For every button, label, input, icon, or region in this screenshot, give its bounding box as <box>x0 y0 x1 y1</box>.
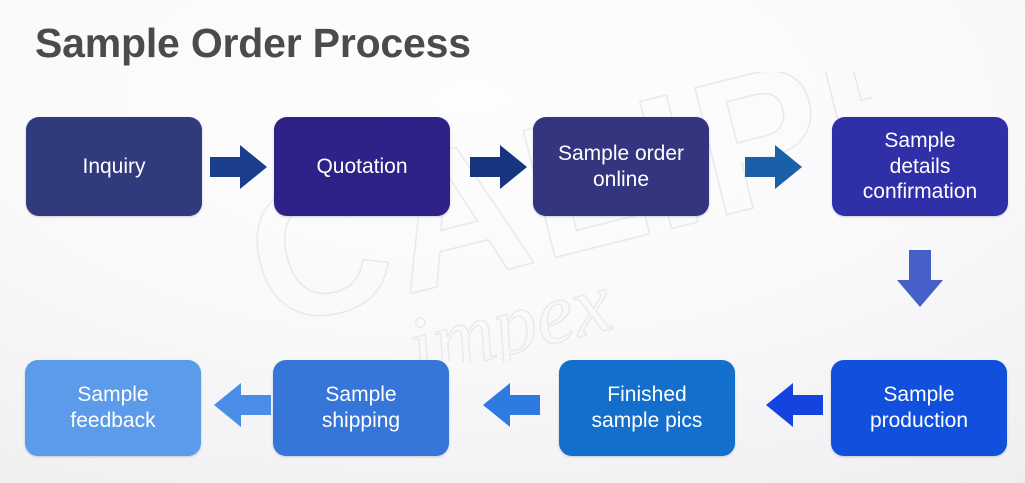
process-node-sample-order-online[interactable]: Sample order online <box>533 117 709 216</box>
process-node-sample-production[interactable]: Sample production <box>831 360 1007 456</box>
node-label-line2: details <box>863 154 977 180</box>
node-label-line2: sample pics <box>592 408 703 434</box>
node-label-line2: feedback <box>70 408 155 434</box>
arrow-down-icon <box>895 250 945 308</box>
process-node-quotation[interactable]: Quotation <box>274 117 450 216</box>
node-label-line1: Sample <box>863 128 977 154</box>
arrow-right-icon <box>745 143 803 191</box>
node-label-line1: Sample order <box>558 141 684 167</box>
node-label-line1: Sample <box>322 382 400 408</box>
slide-canvas: CALIPH impex Sample Order Process Inquir… <box>0 0 1025 483</box>
node-label-line2: shipping <box>322 408 400 434</box>
process-node-inquiry[interactable]: Inquiry <box>26 117 202 216</box>
arrow-left-icon <box>213 381 271 429</box>
svg-text:CALIPH: CALIPH <box>232 72 872 362</box>
svg-text:impex: impex <box>398 253 620 362</box>
page-title: Sample Order Process <box>35 20 471 67</box>
arrow-right-icon <box>470 143 528 191</box>
caliph-watermark: CALIPH impex <box>232 72 872 362</box>
node-label: Quotation <box>316 154 407 180</box>
arrow-left-icon <box>482 381 540 429</box>
node-label-line3: confirmation <box>863 179 977 205</box>
process-node-sample-shipping[interactable]: Sample shipping <box>273 360 449 456</box>
arrow-left-icon <box>765 381 823 429</box>
arrow-right-icon <box>210 143 268 191</box>
process-node-sample-feedback[interactable]: Sample feedback <box>25 360 201 456</box>
node-label-line1: Finished <box>592 382 703 408</box>
node-label-line1: Sample <box>870 382 968 408</box>
process-node-finished-sample-pics[interactable]: Finished sample pics <box>559 360 735 456</box>
node-label-line2: production <box>870 408 968 434</box>
process-node-sample-details-confirmation[interactable]: Sample details confirmation <box>832 117 1008 216</box>
node-label-line1: Sample <box>70 382 155 408</box>
node-label-line2: online <box>558 167 684 193</box>
node-label: Inquiry <box>82 154 145 180</box>
